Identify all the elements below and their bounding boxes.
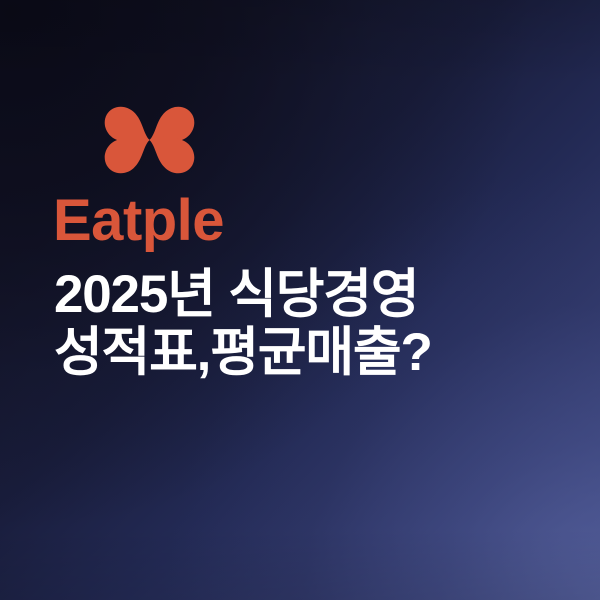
- headline-line-2: 성적표,평균매출?: [54, 324, 574, 382]
- headline-block: 2025년 식당경영 성적표,평균매출?: [54, 266, 574, 382]
- four-leaf-clover-icon: [102, 93, 197, 187]
- brand-wordmark: Eatple: [53, 192, 224, 250]
- poster-card: Eatple 2025년 식당경영 성적표,평균매출?: [0, 0, 600, 600]
- headline-line-1: 2025년 식당경영: [54, 266, 574, 324]
- poster-content: Eatple 2025년 식당경영 성적표,평균매출?: [0, 0, 600, 600]
